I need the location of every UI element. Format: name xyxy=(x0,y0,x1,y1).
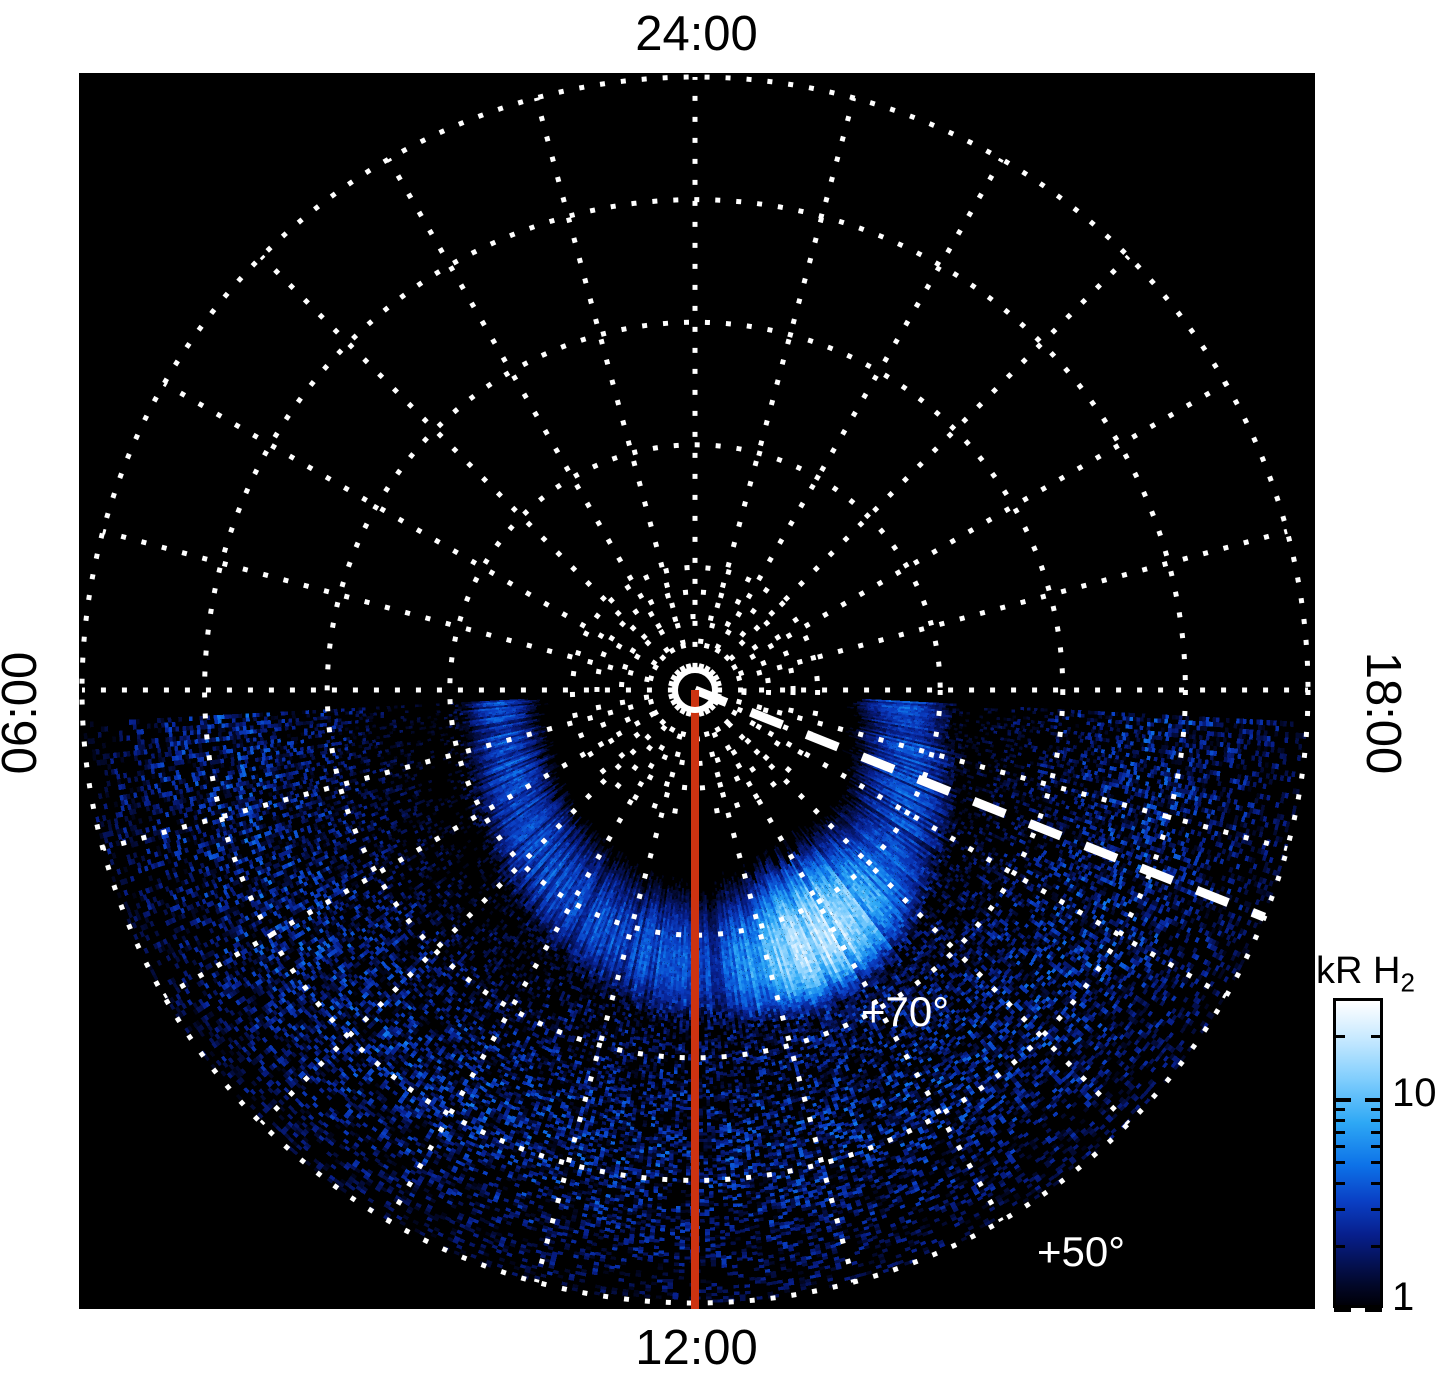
polar-aurora-figure: 24:00 12:00 06:00 18:00 xyxy=(0,0,1447,1384)
colorbar-tick-label-1: 1 xyxy=(1392,1275,1414,1320)
colorbar-title: kR H2 xyxy=(1316,950,1415,999)
colorbar-minor-tick xyxy=(1334,1035,1345,1038)
axis-label-left: 06:00 xyxy=(0,613,48,813)
colorbar-minor-tick xyxy=(1371,1208,1382,1211)
colorbar-minor-tick xyxy=(1334,1108,1345,1111)
colorbar-minor-tick xyxy=(1334,998,1345,1001)
colorbar-minor-tick xyxy=(1371,1035,1382,1038)
polar-plot-panel: +70° +50° xyxy=(79,73,1315,1309)
colorbar-tick-label-10: 10 xyxy=(1392,1071,1437,1116)
axis-label-right: 18:00 xyxy=(1355,613,1411,813)
colorbar-minor-tick xyxy=(1334,1119,1345,1122)
polar-plot-canvas xyxy=(79,73,1315,1309)
colorbar-minor-tick xyxy=(1334,1131,1345,1134)
colorbar-major-tick xyxy=(1334,1308,1351,1312)
colorbar-minor-tick xyxy=(1371,1245,1382,1248)
colorbar-minor-tick xyxy=(1371,1145,1382,1148)
axis-label-bottom: 12:00 xyxy=(0,1320,1393,1376)
colorbar-title-subscript: 2 xyxy=(1400,968,1414,998)
colorbar-minor-tick xyxy=(1371,1182,1382,1185)
colorbar-minor-tick xyxy=(1334,1145,1345,1148)
colorbar-gradient xyxy=(1333,998,1383,1308)
colorbar-title-text: kR H xyxy=(1316,950,1400,992)
colorbar-minor-tick xyxy=(1371,1131,1382,1134)
colorbar-minor-tick xyxy=(1334,1245,1345,1248)
colorbar-major-tick xyxy=(1365,1098,1382,1102)
axis-label-top: 24:00 xyxy=(0,6,1393,62)
colorbar-major-tick xyxy=(1365,1308,1382,1312)
colorbar-minor-tick xyxy=(1371,1108,1382,1111)
colorbar-major-tick xyxy=(1334,1098,1351,1102)
colorbar-minor-tick xyxy=(1371,998,1382,1001)
colorbar-minor-tick xyxy=(1334,1161,1345,1164)
colorbar-minor-tick xyxy=(1334,1208,1345,1211)
colorbar-minor-tick xyxy=(1371,1119,1382,1122)
colorbar-minor-tick xyxy=(1371,1161,1382,1164)
colorbar-minor-tick xyxy=(1334,1182,1345,1185)
